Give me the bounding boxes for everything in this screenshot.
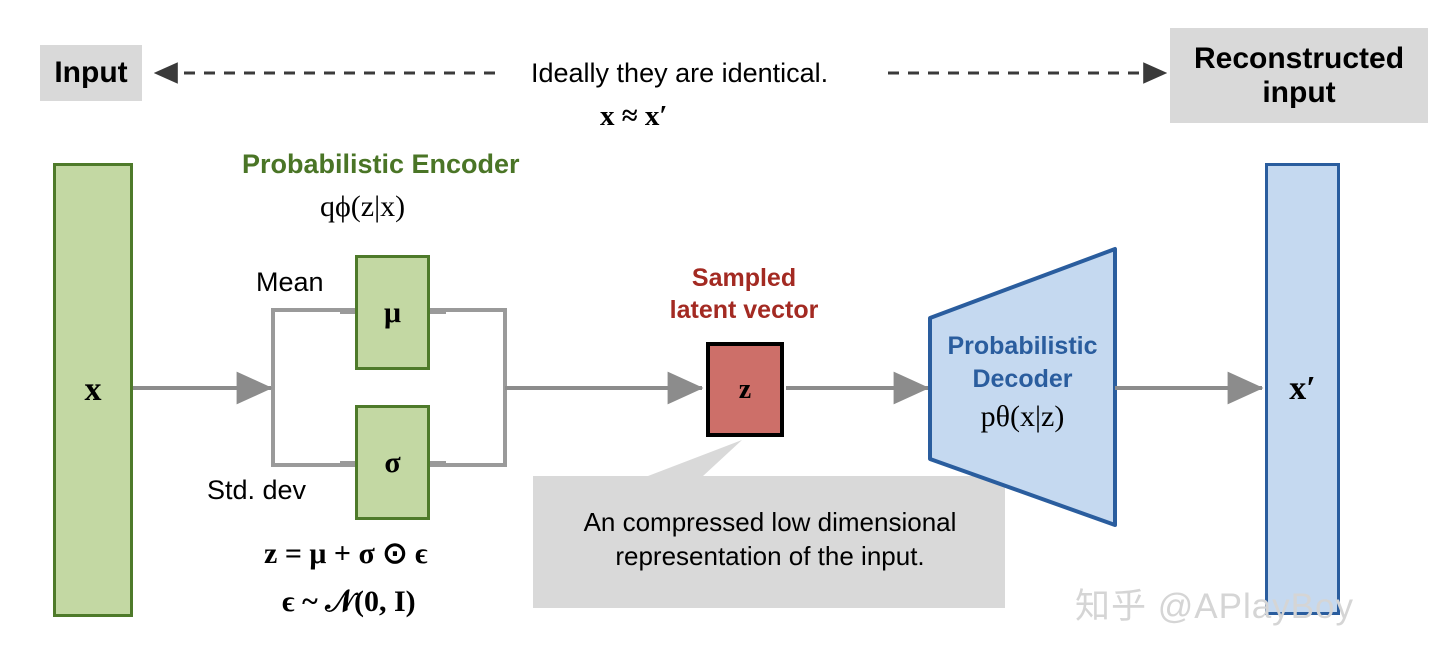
latent-note-text: An compressed low dimensional representa… (536, 505, 1004, 574)
input-vector-symbol: x (56, 371, 130, 409)
latent-title-line2: latent vector (658, 294, 830, 326)
latent-title-line1: Sampled (658, 262, 830, 294)
reconstructed-line1: Reconstructed (1194, 42, 1404, 76)
x-approx-xprime-formula: x ≈ x′ (600, 100, 668, 133)
reconstructed-input-label-chip: Reconstructed input (1170, 28, 1428, 123)
std-dev-label: Std. dev (207, 475, 306, 506)
reparameterization-formula-1: z = μ + σ ⊙ ϵ (264, 536, 428, 571)
sigma-box: σ (355, 405, 430, 520)
latent-vector-box: z (706, 342, 784, 437)
mean-label: Mean (256, 267, 324, 298)
input-label-chip: Input (40, 45, 142, 101)
reconstructed-line2: input (1262, 76, 1335, 110)
output-vector-symbol: x′ (1268, 370, 1337, 408)
probabilistic-encoder-title: Probabilistic Encoder (242, 149, 520, 180)
watermark: 知乎 @APlayBoy (1075, 578, 1354, 629)
decoder-title-line2: Decoder (930, 363, 1115, 396)
probabilistic-decoder-title: Probabilistic Decoder pθ(x|z) (930, 330, 1115, 436)
ideally-identical-note: Ideally they are identical. (531, 58, 828, 89)
note-line1: An compressed low dimensional (536, 505, 1004, 539)
mu-box: μ (355, 255, 430, 370)
encoder-posterior-formula: qϕ(z|x) (320, 190, 405, 224)
decoder-likelihood-formula: pθ(x|z) (930, 397, 1115, 436)
output-vector-bar: x′ (1265, 163, 1340, 615)
reparameterization-formula-2: ϵ ~ 𝒩(0, I) (282, 585, 416, 619)
note-line2: representation of the input. (536, 539, 1004, 573)
vae-diagram-canvas: Input Reconstructed input Ideally they a… (0, 0, 1440, 667)
sampled-latent-vector-title: Sampled latent vector (658, 262, 830, 326)
decoder-title-line1: Probabilistic (930, 330, 1115, 363)
input-vector-bar: x (53, 163, 133, 617)
